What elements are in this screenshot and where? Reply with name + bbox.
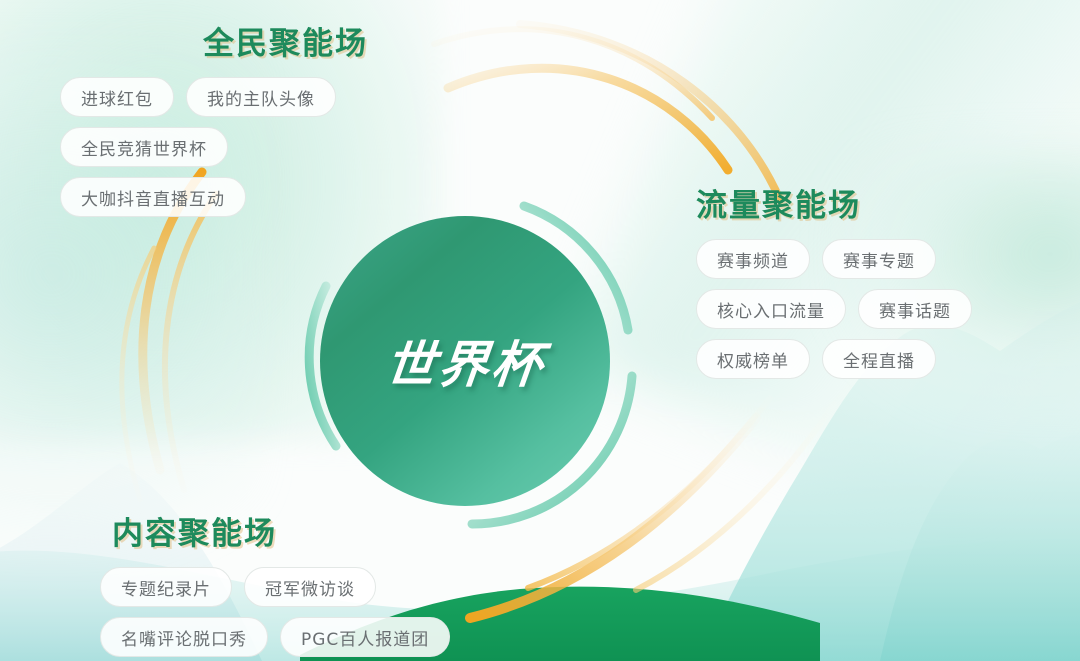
gold-arc-top-1 bbox=[448, 68, 728, 170]
pill-group-quanmin: 进球红包 我的主队头像 全民竞猜世界杯 大咖抖音直播互动 bbox=[60, 77, 420, 217]
pill-group-liuliang: 赛事频道 赛事专题 核心入口流量 赛事话题 权威榜单 全程直播 bbox=[696, 239, 1044, 379]
pill-item[interactable]: 权威榜单 bbox=[696, 339, 810, 379]
section-title-quanmin: 全民聚能场 bbox=[203, 18, 460, 63]
pill-item[interactable]: 赛事频道 bbox=[696, 239, 810, 279]
section-title-neirong: 内容聚能场 bbox=[112, 508, 490, 553]
hub-label: 世界杯 bbox=[382, 325, 549, 397]
gold-arc-top-3 bbox=[434, 29, 712, 118]
infographic-canvas: 世界杯 全民聚能场 进球红包 我的主队头像 全民竞猜世界杯 大咖抖音直播互动 流… bbox=[0, 0, 1080, 661]
gold-arc-bottom-3 bbox=[636, 404, 834, 590]
pill-item[interactable]: 冠军微访谈 bbox=[244, 567, 376, 607]
section-neirong: 内容聚能场 专题纪录片 冠军微访谈 名嘴评论脱口秀 PGC百人报道团 bbox=[100, 508, 490, 657]
mountain-right-mid bbox=[880, 429, 1080, 661]
pill-item[interactable]: 大咖抖音直播互动 bbox=[60, 177, 246, 217]
pill-item[interactable]: 全民竞猜世界杯 bbox=[60, 127, 228, 167]
pill-item[interactable]: 专题纪录片 bbox=[100, 567, 232, 607]
section-quanmin: 全民聚能场 进球红包 我的主队头像 全民竞猜世界杯 大咖抖音直播互动 bbox=[60, 18, 460, 217]
gold-arc-left-3 bbox=[122, 248, 154, 500]
pill-item[interactable]: 我的主队头像 bbox=[186, 77, 336, 117]
pill-group-neirong: 专题纪录片 冠军微访谈 名嘴评论脱口秀 PGC百人报道团 bbox=[100, 567, 472, 657]
pill-item[interactable]: 核心入口流量 bbox=[696, 289, 846, 329]
section-liuliang: 流量聚能场 赛事频道 赛事专题 核心入口流量 赛事话题 权威榜单 全程直播 bbox=[696, 180, 1056, 379]
hub-circle: 世界杯 bbox=[320, 216, 610, 506]
section-title-liuliang: 流量聚能场 bbox=[696, 180, 1056, 225]
center-hub: 世界杯 bbox=[320, 216, 610, 506]
pill-item[interactable]: 赛事专题 bbox=[822, 239, 936, 279]
pill-item[interactable]: PGC百人报道团 bbox=[280, 617, 450, 657]
gold-arc-left-2 bbox=[165, 194, 216, 490]
pill-item[interactable]: 名嘴评论脱口秀 bbox=[100, 617, 268, 657]
pill-item[interactable]: 全程直播 bbox=[822, 339, 936, 379]
pill-item[interactable]: 进球红包 bbox=[60, 77, 174, 117]
gold-arc-top-2 bbox=[520, 24, 780, 200]
pill-item[interactable]: 赛事话题 bbox=[858, 289, 972, 329]
